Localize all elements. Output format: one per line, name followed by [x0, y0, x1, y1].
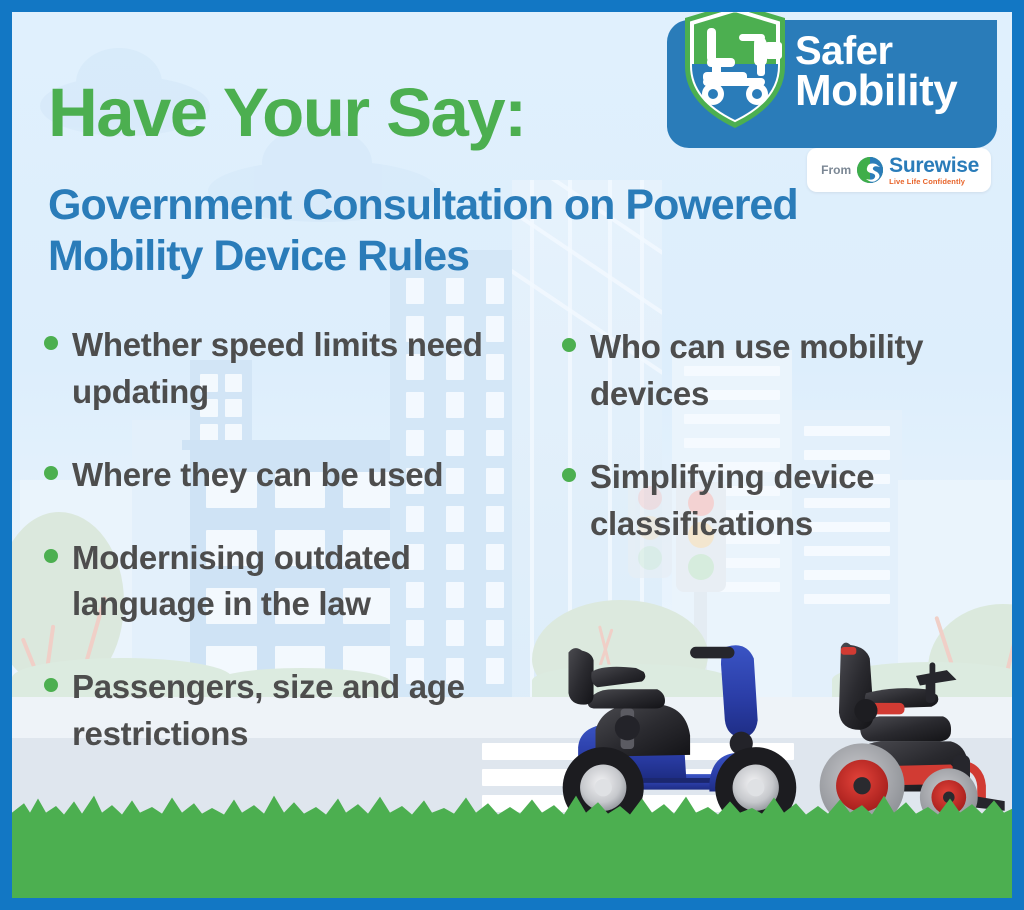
brand-name: Surewise: [889, 155, 979, 176]
logo-wordmark: Safer Mobility: [795, 32, 957, 113]
list-item: Whether speed limits need updating: [44, 322, 544, 416]
bullet-column-right: Who can use mobility devices Simplifying…: [562, 322, 992, 794]
grass-band: [12, 824, 1012, 898]
poster-canvas: Safer Mobility From Surewise Live Life C…: [12, 12, 1012, 898]
logo-line-2: Mobility: [795, 70, 957, 112]
grass-blades: [12, 790, 1012, 824]
from-label: From: [821, 163, 851, 177]
logo-panel: Safer Mobility: [667, 20, 997, 148]
bullet-dot-icon: [44, 466, 58, 480]
bullet-text: Simplifying device classifications: [590, 454, 992, 548]
list-item: Where they can be used: [44, 452, 544, 499]
bullet-text: Who can use mobility devices: [590, 324, 992, 418]
logo-line-1: Safer: [795, 32, 957, 70]
list-item: Simplifying device classifications: [562, 454, 992, 548]
bullet-text: Passengers, size and age restrictions: [72, 664, 544, 758]
infographic-poster: Safer Mobility From Surewise Live Life C…: [0, 0, 1024, 910]
bullet-lists: Whether speed limits need updating Where…: [44, 322, 992, 794]
list-item: Passengers, size and age restrictions: [44, 664, 544, 758]
bullet-column-left: Whether speed limits need updating Where…: [44, 322, 544, 794]
bullet-dot-icon: [44, 678, 58, 692]
page-headline: Have Your Say:: [48, 78, 525, 147]
list-item: Who can use mobility devices: [562, 324, 992, 418]
bullet-text: Whether speed limits need updating: [72, 322, 544, 416]
shield-with-mobility-scooter-icon: [679, 12, 791, 132]
bullet-dot-icon: [44, 549, 58, 563]
bullet-text: Where they can be used: [72, 452, 443, 499]
bullet-dot-icon: [562, 468, 576, 482]
list-item: Modernising outdated language in the law: [44, 535, 544, 629]
bullet-dot-icon: [44, 336, 58, 350]
bullet-dot-icon: [562, 338, 576, 352]
page-subheading: Government Consultation on Powered Mobil…: [48, 180, 948, 281]
safer-mobility-logo[interactable]: Safer Mobility From Surewise Live Life C…: [667, 16, 1012, 196]
bullet-text: Modernising outdated language in the law: [72, 535, 544, 629]
